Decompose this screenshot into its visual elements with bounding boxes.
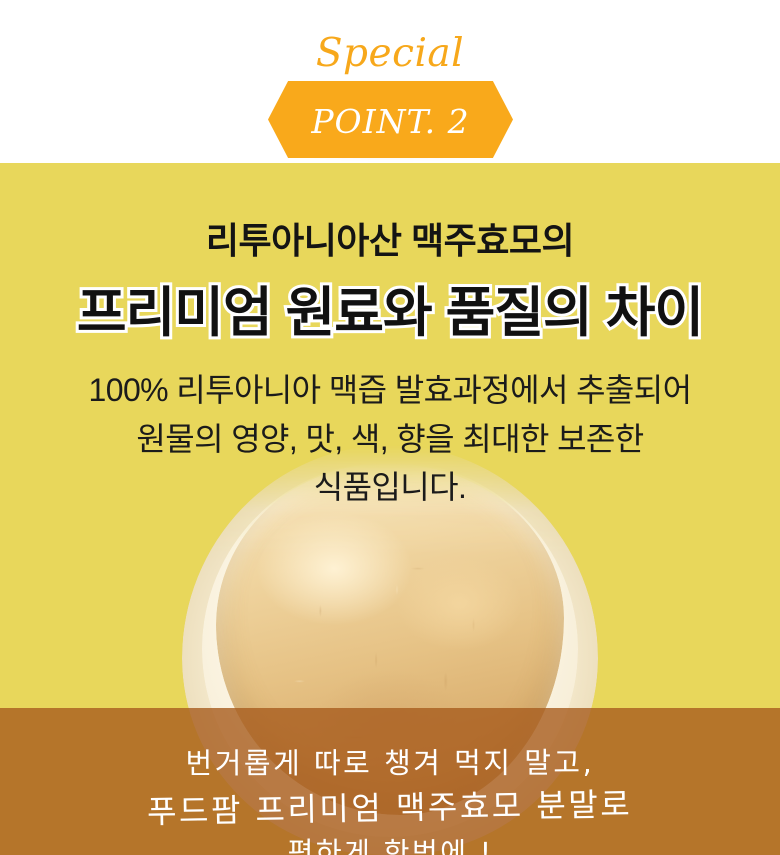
callout-band: 번거롭게 따로 챙겨 먹지 말고, 푸드팜 프리미엄 맥주효모 분말로 편하게 … bbox=[0, 708, 780, 855]
point-banner-label: POINT. 2 bbox=[268, 81, 513, 158]
yellow-content-section: 리투아니아산 맥주효모의 프리미엄 원료와 품질의 차이 100% 리투아니아 … bbox=[0, 163, 780, 855]
callout-line: 편하게 한번에 ! bbox=[287, 833, 493, 855]
body-copy-line: 100% 리투아니아 맥즙 발효과정에서 추출되어 bbox=[0, 366, 780, 415]
point-banner: POINT. 2 bbox=[268, 81, 513, 158]
body-copy: 100% 리투아니아 맥즙 발효과정에서 추출되어 원물의 영양, 맛, 색, … bbox=[0, 366, 780, 512]
body-copy-line: 식품입니다. bbox=[0, 463, 780, 512]
callout-line: 번거롭게 따로 챙겨 먹지 말고, bbox=[185, 742, 594, 784]
subheadline: 리투아니아산 맥주효모의 bbox=[0, 218, 780, 263]
body-copy-line: 원물의 영양, 맛, 색, 향을 최대한 보존한 bbox=[0, 415, 780, 464]
handwritten-callout: 번거롭게 따로 챙겨 먹지 말고, 푸드팜 프리미엄 맥주효모 분말로 편하게 … bbox=[0, 704, 780, 855]
header-section: Special POINT. 2 bbox=[0, 0, 780, 163]
page-title: 프리미엄 원료와 품질의 차이 bbox=[0, 281, 780, 347]
special-script-label: Special bbox=[0, 34, 780, 73]
promo-page: Special POINT. 2 리투아니아산 맥주효모의 프리미엄 원료와 품… bbox=[0, 0, 780, 855]
callout-line: 푸드팜 프리미엄 맥주효모 분말로 bbox=[147, 782, 633, 835]
